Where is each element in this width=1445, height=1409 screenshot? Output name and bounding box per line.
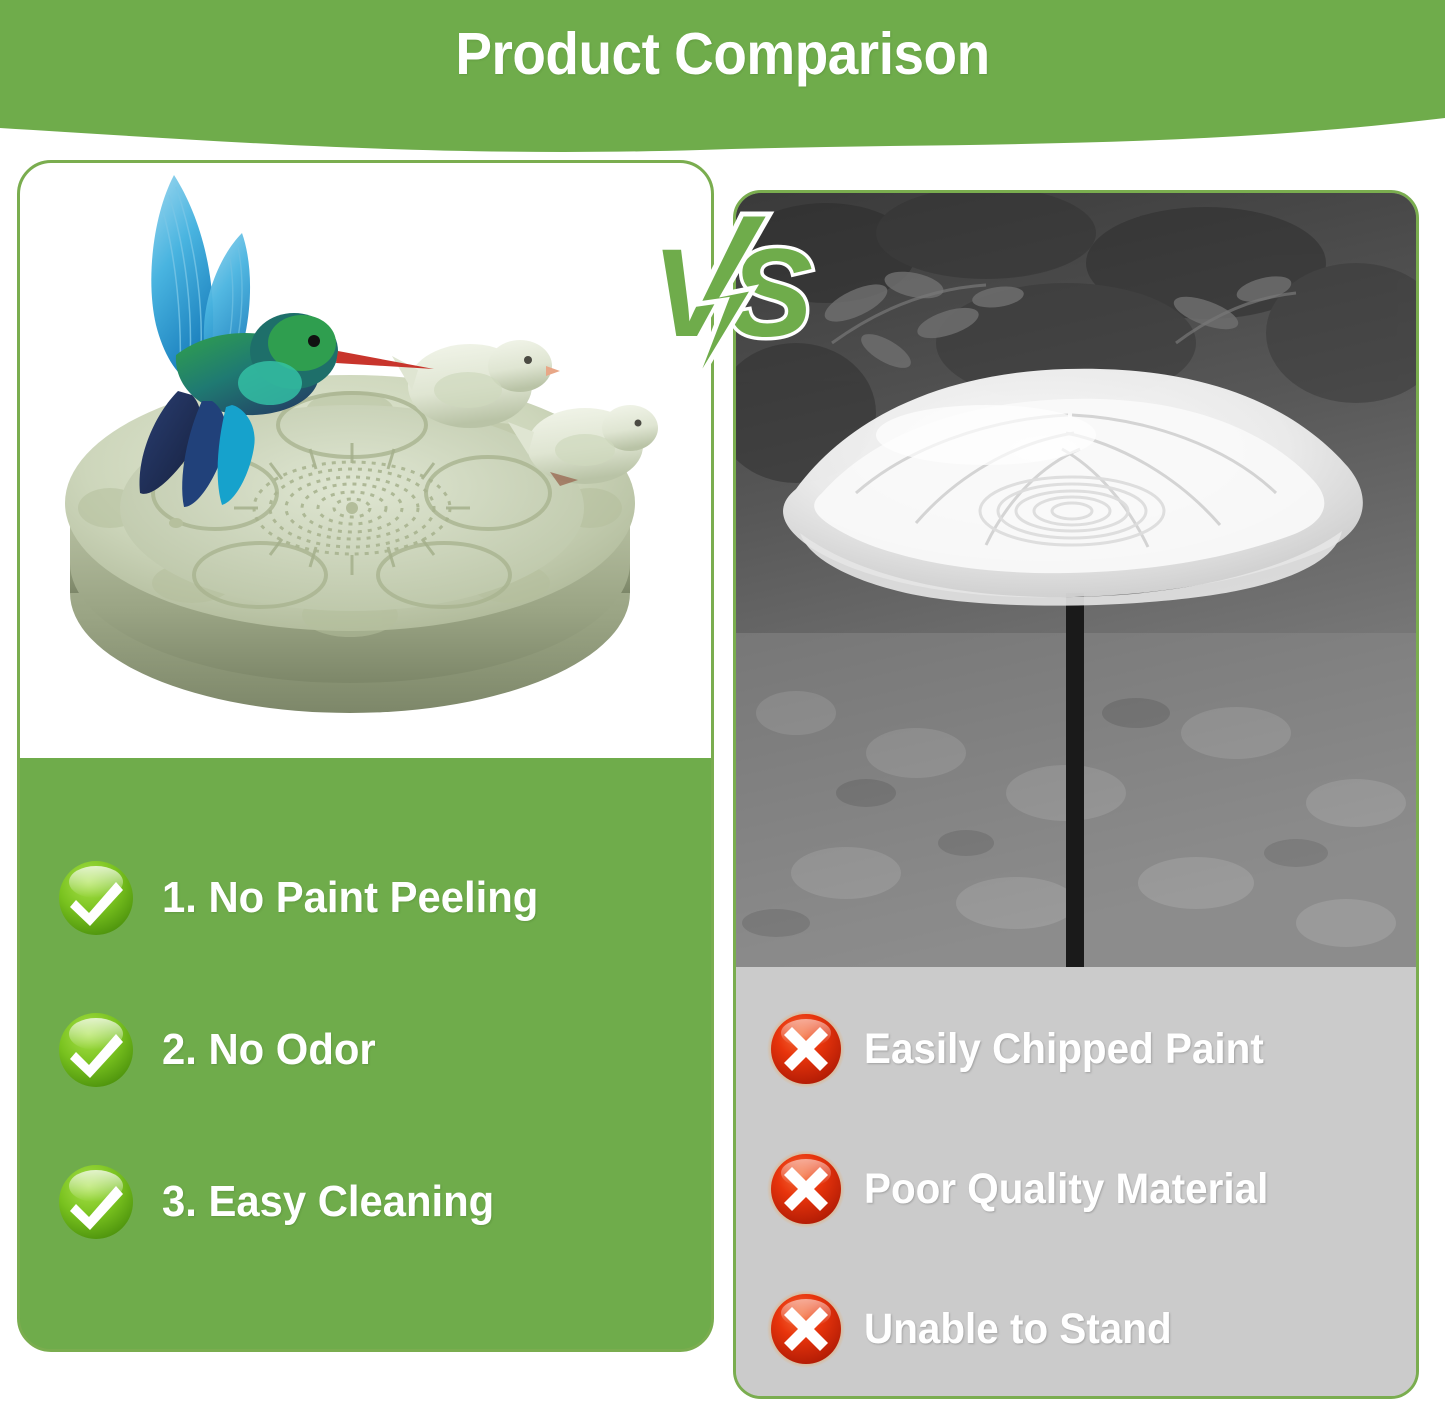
check-circle-icon	[56, 1162, 136, 1242]
x-circle-icon	[766, 1009, 846, 1089]
list-item: 3. Easy Cleaning	[56, 1162, 691, 1242]
drawback-label: Unable to Stand	[864, 1305, 1172, 1354]
ceramic-birdbath-illustration	[20, 163, 711, 758]
drawback-label: Easily Chipped Paint	[864, 1025, 1264, 1074]
feature-label: 1. No Paint Peeling	[162, 873, 538, 923]
feature-label: 2. No Odor	[162, 1025, 376, 1075]
competitor-product-photo	[736, 193, 1416, 967]
pros-list: 1. No Paint Peeling 2. No Odor	[56, 858, 691, 1242]
header-banner: Product Comparison	[0, 0, 1445, 165]
x-circle-icon	[766, 1289, 846, 1369]
list-item: 2. No Odor	[56, 1010, 691, 1090]
list-item: Easily Chipped Paint	[766, 1009, 1408, 1089]
our-product-photo	[20, 163, 711, 758]
glass-birdbath-photo-grayscale	[736, 193, 1416, 967]
list-item: Poor Quality Material	[766, 1149, 1408, 1229]
cons-list: Easily Chipped Paint Poor Quality Materi…	[766, 1009, 1408, 1369]
list-item: 1. No Paint Peeling	[56, 858, 691, 938]
stake-pole	[1066, 593, 1084, 967]
cons-section: Easily Chipped Paint Poor Quality Materi…	[736, 967, 1416, 1396]
check-circle-icon	[56, 858, 136, 938]
feature-label: 3. Easy Cleaning	[162, 1177, 494, 1227]
drawback-label: Poor Quality Material	[864, 1165, 1268, 1214]
vs-badge: VS	[638, 208, 818, 398]
our-product-panel: 1. No Paint Peeling 2. No Odor	[17, 160, 714, 1352]
pros-section: 1. No Paint Peeling 2. No Odor	[20, 758, 711, 1349]
list-item: Unable to Stand	[766, 1289, 1408, 1369]
product-comparison-infographic: Product Comparison	[0, 0, 1445, 1409]
x-circle-icon	[766, 1149, 846, 1229]
page-title: Product Comparison	[51, 20, 1395, 88]
check-circle-icon	[56, 1010, 136, 1090]
competitor-product-panel: Easily Chipped Paint Poor Quality Materi…	[733, 190, 1419, 1399]
